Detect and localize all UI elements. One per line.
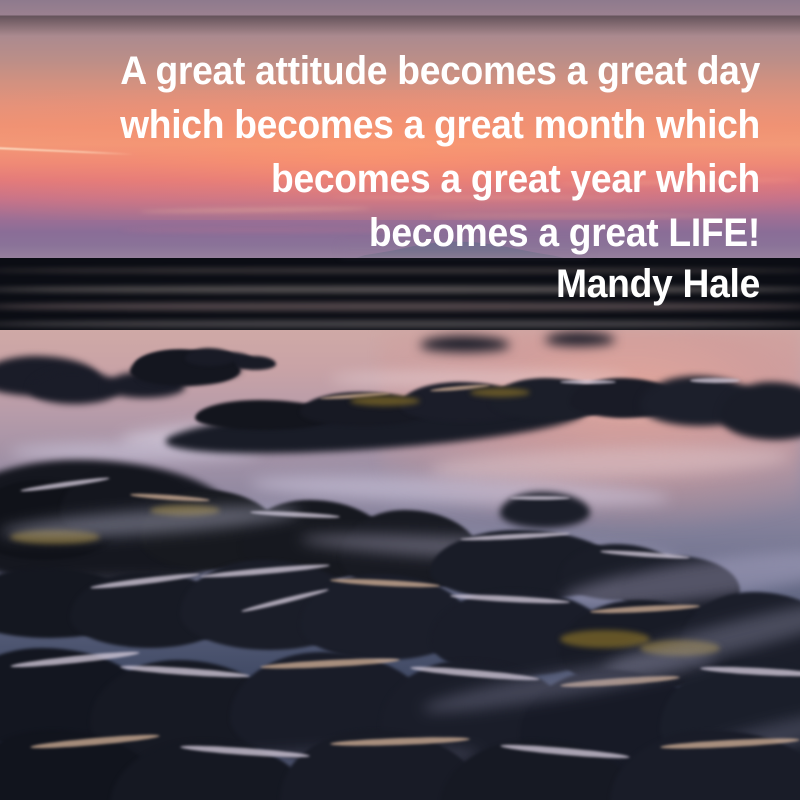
rock: [545, 332, 615, 346]
sea-reflection-band: [0, 320, 800, 328]
quote-image-canvas: A great attitude becomes a great day whi…: [0, 0, 800, 800]
rock-rim-highlight: [690, 378, 740, 383]
rock: [420, 336, 510, 352]
seaweed: [560, 630, 650, 648]
rock: [185, 348, 235, 366]
foreground-shoreline: [0, 330, 800, 800]
rock: [236, 356, 276, 370]
rock-rim-highlight: [510, 496, 570, 500]
quote-text: A great attitude becomes a great day whi…: [90, 44, 760, 260]
seaweed: [350, 396, 420, 406]
seaweed: [470, 388, 530, 397]
quote-author: Mandy Hale: [90, 260, 760, 308]
rock-rim-highlight: [560, 380, 616, 384]
